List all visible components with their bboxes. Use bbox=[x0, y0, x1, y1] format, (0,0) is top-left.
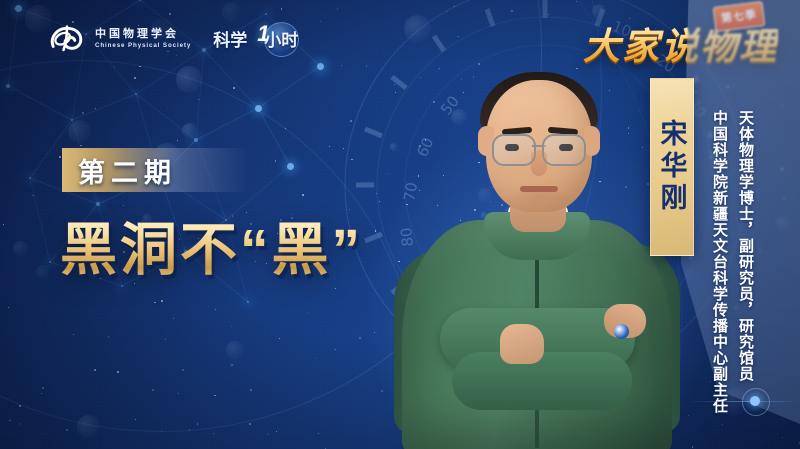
poster-root: 10 20 30 40 50 60 70 80 90 100 bbox=[0, 0, 800, 449]
header-logos: 中国物理学会 Chinese Physical Society 科学小时 1 bbox=[48, 22, 299, 56]
chin-shadow bbox=[504, 192, 574, 212]
society-name-cn: 中国物理学会 bbox=[95, 29, 191, 40]
speaker-portrait bbox=[392, 52, 682, 449]
episode-label: 第二期 bbox=[78, 151, 177, 190]
hand-left bbox=[500, 324, 544, 364]
speaker-name: 宋华刚 bbox=[653, 119, 692, 215]
society-name-en: Chinese Physical Society bbox=[95, 43, 191, 49]
ear-right bbox=[584, 126, 600, 156]
program-logo[interactable]: 科学小时 1 bbox=[213, 22, 299, 56]
program-logo-text-left: 科学 bbox=[213, 31, 247, 50]
deco-line-horizontal bbox=[690, 401, 800, 402]
nose bbox=[531, 150, 547, 176]
episode-label-bar: 第二期 bbox=[62, 148, 248, 192]
lapel-pin-icon bbox=[614, 324, 629, 339]
chinese-physical-society-logo-icon bbox=[48, 24, 86, 54]
program-logo-number: 1 bbox=[257, 21, 269, 47]
arm-crossed-lower bbox=[452, 352, 632, 410]
speaker-credentials-line-1: 天体物理学博士，副研究员，研究馆员 bbox=[737, 110, 754, 382]
society-logo[interactable]: 中国物理学会 Chinese Physical Society bbox=[48, 24, 191, 54]
speaker-credentials-line-2: 中国科学院新疆天文台科学传播中心副主任 bbox=[711, 110, 728, 414]
speaker-name-banner: 宋华刚 bbox=[650, 78, 694, 256]
episode-title: 黑洞不“黑” bbox=[60, 204, 363, 286]
